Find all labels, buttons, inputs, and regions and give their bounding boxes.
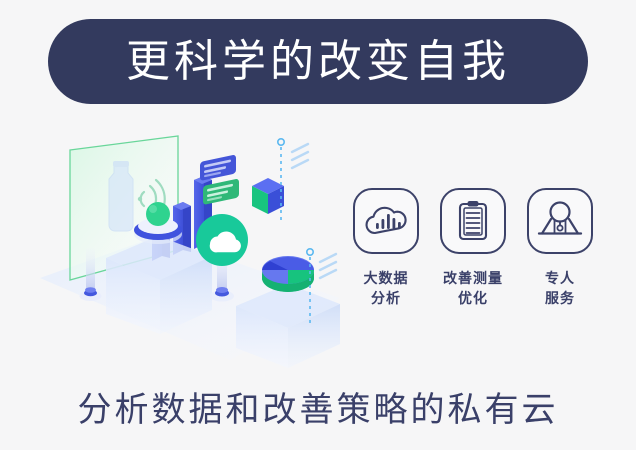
pie-chart-3d bbox=[262, 256, 314, 292]
cloud-chart-icon bbox=[364, 201, 408, 241]
clipboard-icon bbox=[453, 199, 493, 243]
page-title: 更科学的改变自我 bbox=[126, 40, 510, 84]
poster-canvas: 更科学的改变自我 bbox=[0, 0, 636, 450]
feature-label: 大数据 分析 bbox=[364, 268, 409, 309]
service-agent-icon bbox=[537, 200, 583, 242]
tag-blue bbox=[200, 154, 236, 181]
feature-item-service[interactable]: 专人 服务 bbox=[522, 188, 598, 328]
isometric-cube bbox=[252, 178, 284, 214]
clipboard-badge bbox=[440, 188, 506, 254]
feature-item-measurement[interactable]: 改善测量 优化 bbox=[435, 188, 511, 328]
footer-tagline: 分析数据和改善策略的私有云 bbox=[0, 382, 636, 431]
feature-label: 改善测量 优化 bbox=[443, 268, 503, 309]
feature-list: 大数据 分析 改善测量 优化 bbox=[348, 188, 598, 328]
feature-item-big-data[interactable]: 大数据 分析 bbox=[348, 188, 424, 328]
hero-illustration bbox=[40, 128, 340, 368]
cloud-chart-badge bbox=[353, 188, 419, 254]
service-agent-badge bbox=[527, 188, 593, 254]
title-banner: 更科学的改变自我 bbox=[48, 19, 588, 104]
feature-label: 专人 服务 bbox=[545, 268, 575, 309]
dashed-connector-top bbox=[278, 139, 308, 222]
